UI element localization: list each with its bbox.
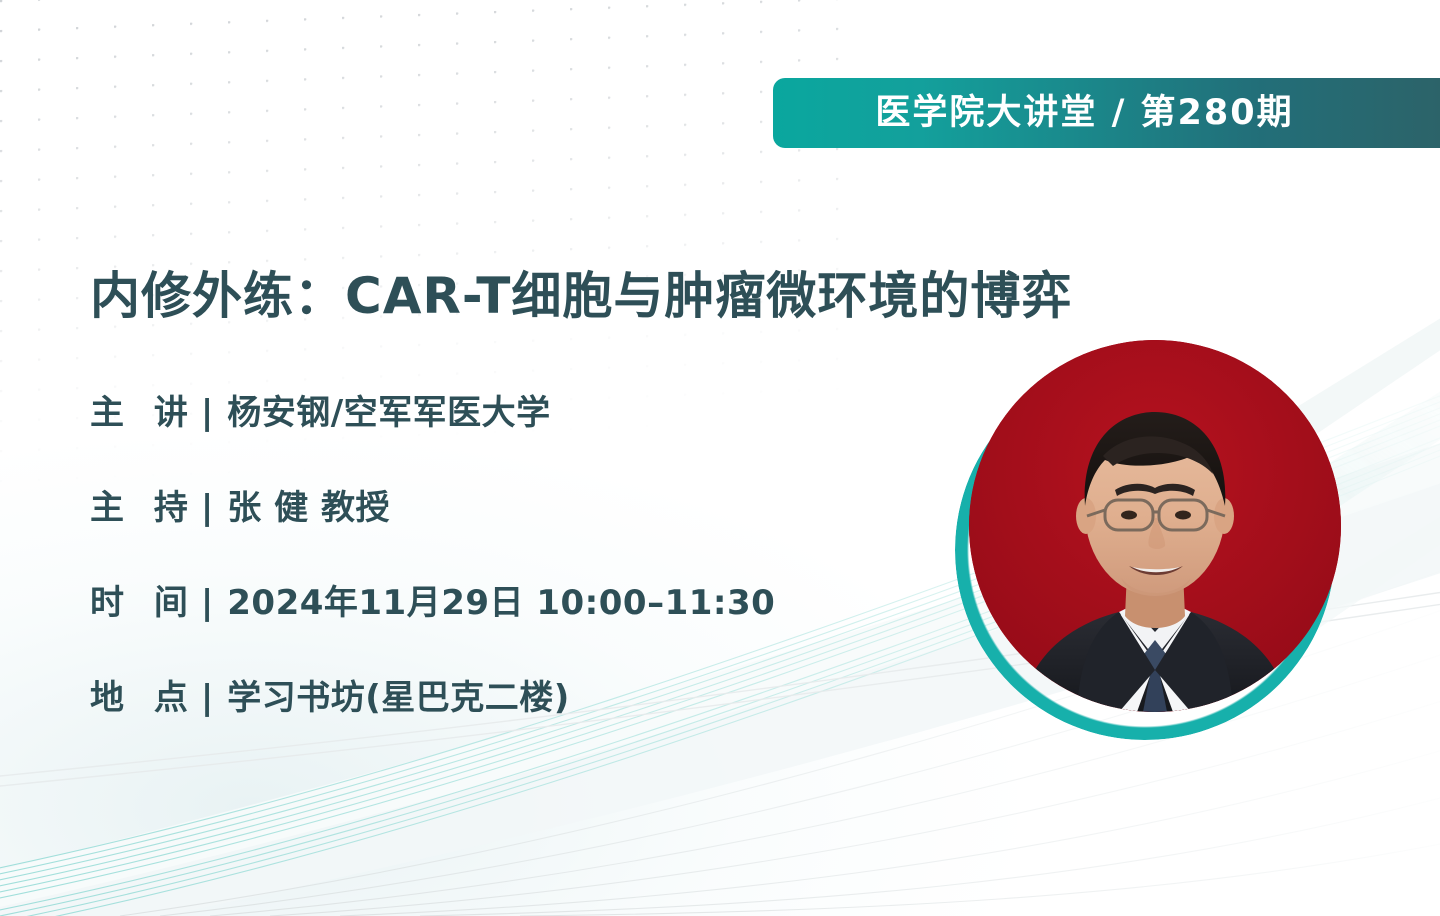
detail-label-location: 地 点 <box>90 670 197 719</box>
detail-separator: | <box>197 583 227 623</box>
detail-row-host: 主 持 | 张 健 教授 <box>90 480 950 575</box>
detail-value-location: 学习书坊(星巴克二楼) <box>227 670 570 719</box>
detail-value-speaker: 杨安钢/空军军医大学 <box>227 385 550 434</box>
lecture-details: 主 讲 | 杨安钢/空军军医大学 主 持 | 张 健 教授 时 间 | 2024… <box>90 385 950 765</box>
lecture-title: 内修外练：CAR-T细胞与肿瘤微环境的博弈 <box>90 266 1072 327</box>
detail-row-speaker: 主 讲 | 杨安钢/空军军医大学 <box>90 385 950 480</box>
detail-separator: | <box>197 488 227 528</box>
detail-row-location: 地 点 | 学习书坊(星巴克二楼) <box>90 670 950 765</box>
detail-separator: | <box>197 393 227 433</box>
detail-value-time: 2024年11月29日 10:00–11:30 <box>227 575 775 624</box>
detail-value-host: 张 健 教授 <box>227 480 390 529</box>
portrait-image <box>969 340 1341 712</box>
detail-label-time: 时 间 <box>90 575 197 624</box>
event-poster: 医学院大讲堂 / 第280期 内修外练：CAR-T细胞与肿瘤微环境的博弈 主 讲… <box>0 0 1440 916</box>
speaker-portrait <box>955 340 1355 740</box>
portrait-photo <box>969 340 1341 712</box>
detail-label-host: 主 持 <box>90 480 197 529</box>
series-banner: 医学院大讲堂 / 第280期 <box>773 78 1440 148</box>
detail-row-time: 时 间 | 2024年11月29日 10:00–11:30 <box>90 575 950 670</box>
detail-label-speaker: 主 讲 <box>90 385 197 434</box>
detail-separator: | <box>197 678 227 718</box>
series-banner-label: 医学院大讲堂 / 第280期 <box>875 96 1293 131</box>
